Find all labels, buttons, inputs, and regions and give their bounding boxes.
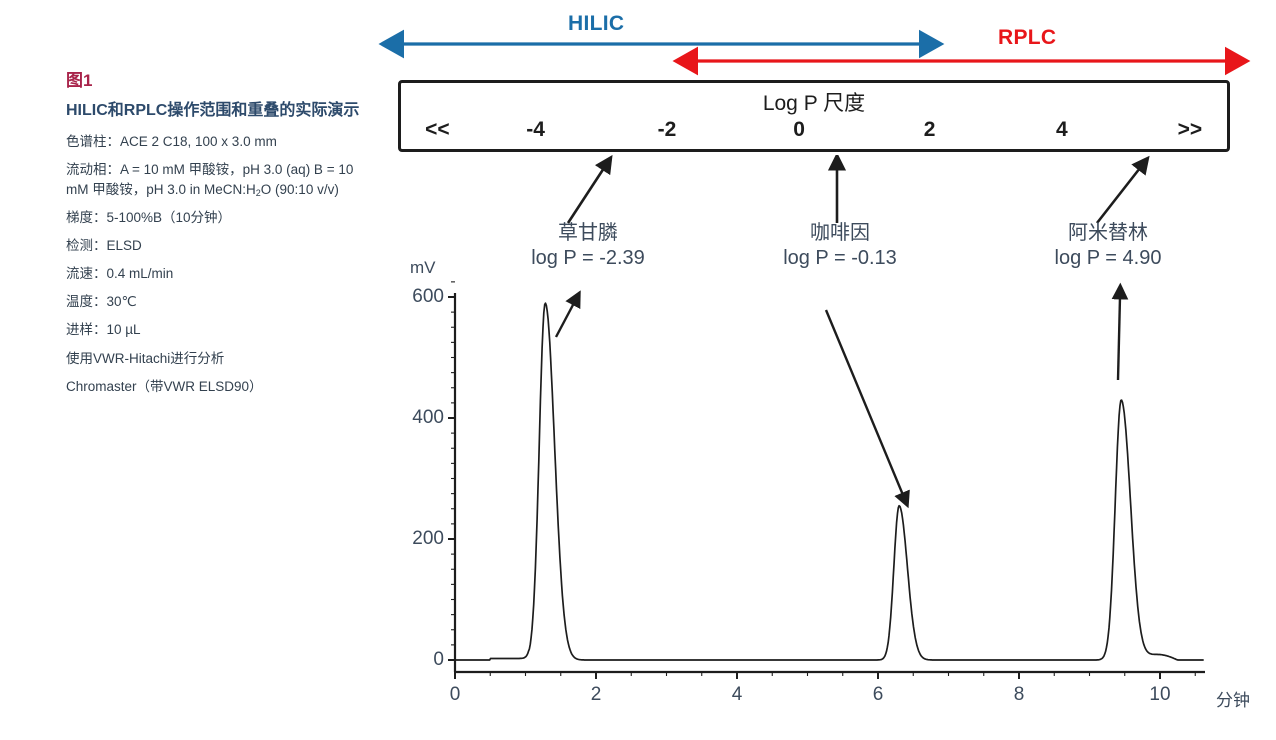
callout-arrow-glyphosate: [568, 168, 604, 223]
operating-range-arrows: HILIC RPLC: [0, 0, 1276, 78]
caption-line-temperature: 温度：30℃: [66, 292, 378, 311]
logp-tick--2: -2: [658, 118, 677, 142]
compound-name-caffeine: 咖啡因: [742, 222, 938, 245]
chromatogram: mV 600 400 200 0 0 2 4 6 8 10 分钟: [398, 255, 1276, 740]
chromatogram-trace: [455, 303, 1204, 660]
caption-line-injection: 进样：10 µL: [66, 320, 378, 339]
caption-line-detector: Chromaster（带VWR ELSD90）: [66, 377, 378, 396]
range-arrows-svg: [0, 0, 1276, 78]
logp-tick-gt: >>: [1178, 118, 1203, 142]
compound-name-glyphosate: 草甘膦: [488, 222, 688, 245]
logp-scale-title: Log P 尺度: [401, 87, 1227, 117]
chromatogram-plot: [398, 255, 1276, 740]
caption-line-flowrate: 流速：0.4 mL/min: [66, 264, 378, 283]
caption-line-instrument: 使用VWR-Hitachi进行分析: [66, 349, 378, 368]
caption-line-column: 色谱柱：ACE 2 C18, 100 x 3.0 mm: [66, 132, 378, 151]
logp-tick--4: -4: [526, 118, 545, 142]
logp-tick-0: 0: [793, 118, 805, 142]
logp-tick-lt: <<: [425, 118, 450, 142]
callout-arrow-amitriptyline: [1097, 168, 1140, 223]
logp-scale-box: Log P 尺度 << -4 -2 0 2 4 >>: [398, 80, 1230, 152]
logp-tick-4: 4: [1056, 118, 1068, 142]
logp-tick-2: 2: [924, 118, 936, 142]
figure-title: HILIC和RPLC操作范围和重叠的实际演示: [66, 100, 378, 122]
compound-name-amitriptyline: 阿米替林: [1010, 222, 1206, 245]
